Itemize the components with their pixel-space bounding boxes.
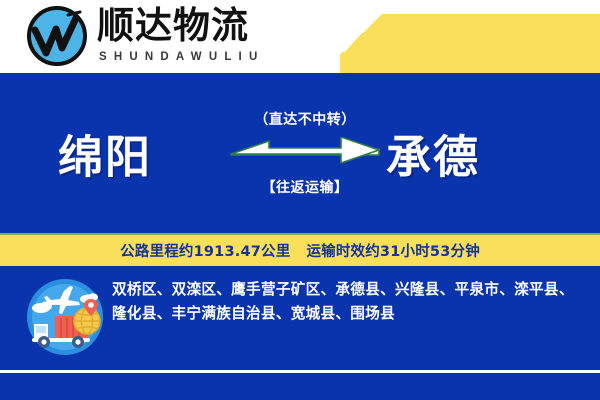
double-headed-arrow-icon (229, 137, 381, 167)
brand-text: 顺达物流 SHUNDAWULIU (97, 4, 264, 64)
logistics-truck-plane-globe-icon (24, 276, 106, 358)
covered-districts-text: 双桥区、双滦区、鹰手营子矿区、承德县、兴隆县、平泉市、滦平县、隆化县、丰宁满族自… (112, 278, 586, 326)
logistics-route-banner: 顺达物流 SHUNDAWULIU 绵阳 （直达不中转） 【往返运输】 承德 公路… (0, 0, 600, 400)
duration-label: 运输时效约31小时53分钟 (306, 240, 479, 261)
brand-name-en: SHUNDAWULIU (97, 50, 264, 64)
distance-label: 公路里程约1913.47公里 (120, 240, 290, 261)
destination-city: 承德 (386, 121, 480, 186)
brand-name-cn: 顺达物流 (97, 4, 264, 48)
route-panel: 绵阳 （直达不中转） 【往返运输】 承德 (0, 73, 600, 233)
banner-footer (0, 373, 600, 400)
route-info-bar: 公路里程约1913.47公里 运输时效约31小时53分钟 (0, 233, 600, 266)
origin-city: 绵阳 (58, 121, 152, 186)
decorative-yellow-stripes (340, 0, 600, 73)
circle-swoosh-logo-icon (26, 5, 88, 67)
direct-note: （直达不中转） (254, 109, 356, 129)
coverage-section: 双桥区、双滦区、鹰手营子矿区、承德县、兴隆县、平泉市、滦平县、隆化县、丰宁满族自… (0, 266, 600, 370)
brand-logo: 顺达物流 SHUNDAWULIU (26, 4, 264, 67)
route-middle-block: （直达不中转） 【往返运输】 (222, 73, 388, 233)
banner-header: 顺达物流 SHUNDAWULIU (0, 0, 600, 73)
roundtrip-note: 【往返运输】 (262, 177, 349, 197)
